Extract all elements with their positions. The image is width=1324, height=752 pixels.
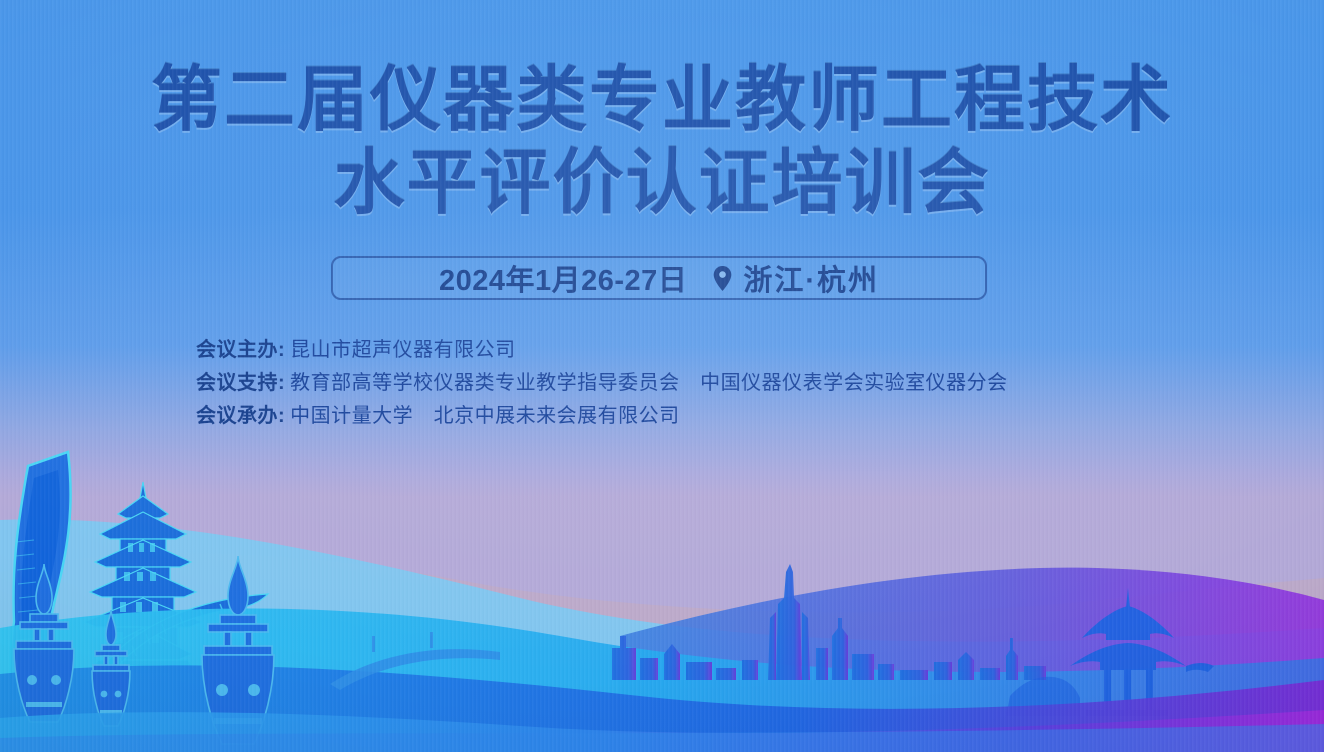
organizer-value: 昆山市超声仪器有限公司	[290, 333, 516, 362]
location-group: 浙江·杭州	[713, 257, 879, 299]
conference-banner: 第二届仪器类专业教师工程技术 水平评价认证培训会 2024年1月26-27日 浙…	[0, 0, 1324, 752]
organizer-label: 会议主办:	[196, 333, 285, 362]
organizer-row: 会议支持: 教育部高等学校仪器类专业教学指导委员会 中国仪器仪表学会实验室仪器分…	[196, 366, 1008, 399]
conference-date: 2024年1月26-27日	[439, 257, 687, 299]
organizer-value: 教育部高等学校仪器类专业教学指导委员会 中国仪器仪表学会实验室仪器分会	[290, 366, 1008, 395]
organizer-label: 会议承办:	[196, 399, 285, 428]
organizer-label: 会议支持:	[196, 366, 285, 395]
banner-title-line-2: 水平评价认证培训会	[0, 145, 1324, 223]
organizer-list: 会议主办: 昆山市超声仪器有限公司 会议支持: 教育部高等学校仪器类专业教学指导…	[196, 333, 1008, 432]
map-pin-icon	[713, 266, 732, 291]
organizer-row: 会议主办: 昆山市超声仪器有限公司	[196, 333, 1008, 366]
conference-location: 浙江·杭州	[743, 257, 879, 299]
banner-title-line-1: 第二届仪器类专业教师工程技术	[0, 62, 1324, 140]
date-location-pill: 2024年1月26-27日 浙江·杭州	[331, 256, 987, 300]
organizer-row: 会议承办: 中国计量大学 北京中展未来会展有限公司	[196, 399, 1008, 432]
organizer-value: 中国计量大学 北京中展未来会展有限公司	[290, 399, 680, 428]
